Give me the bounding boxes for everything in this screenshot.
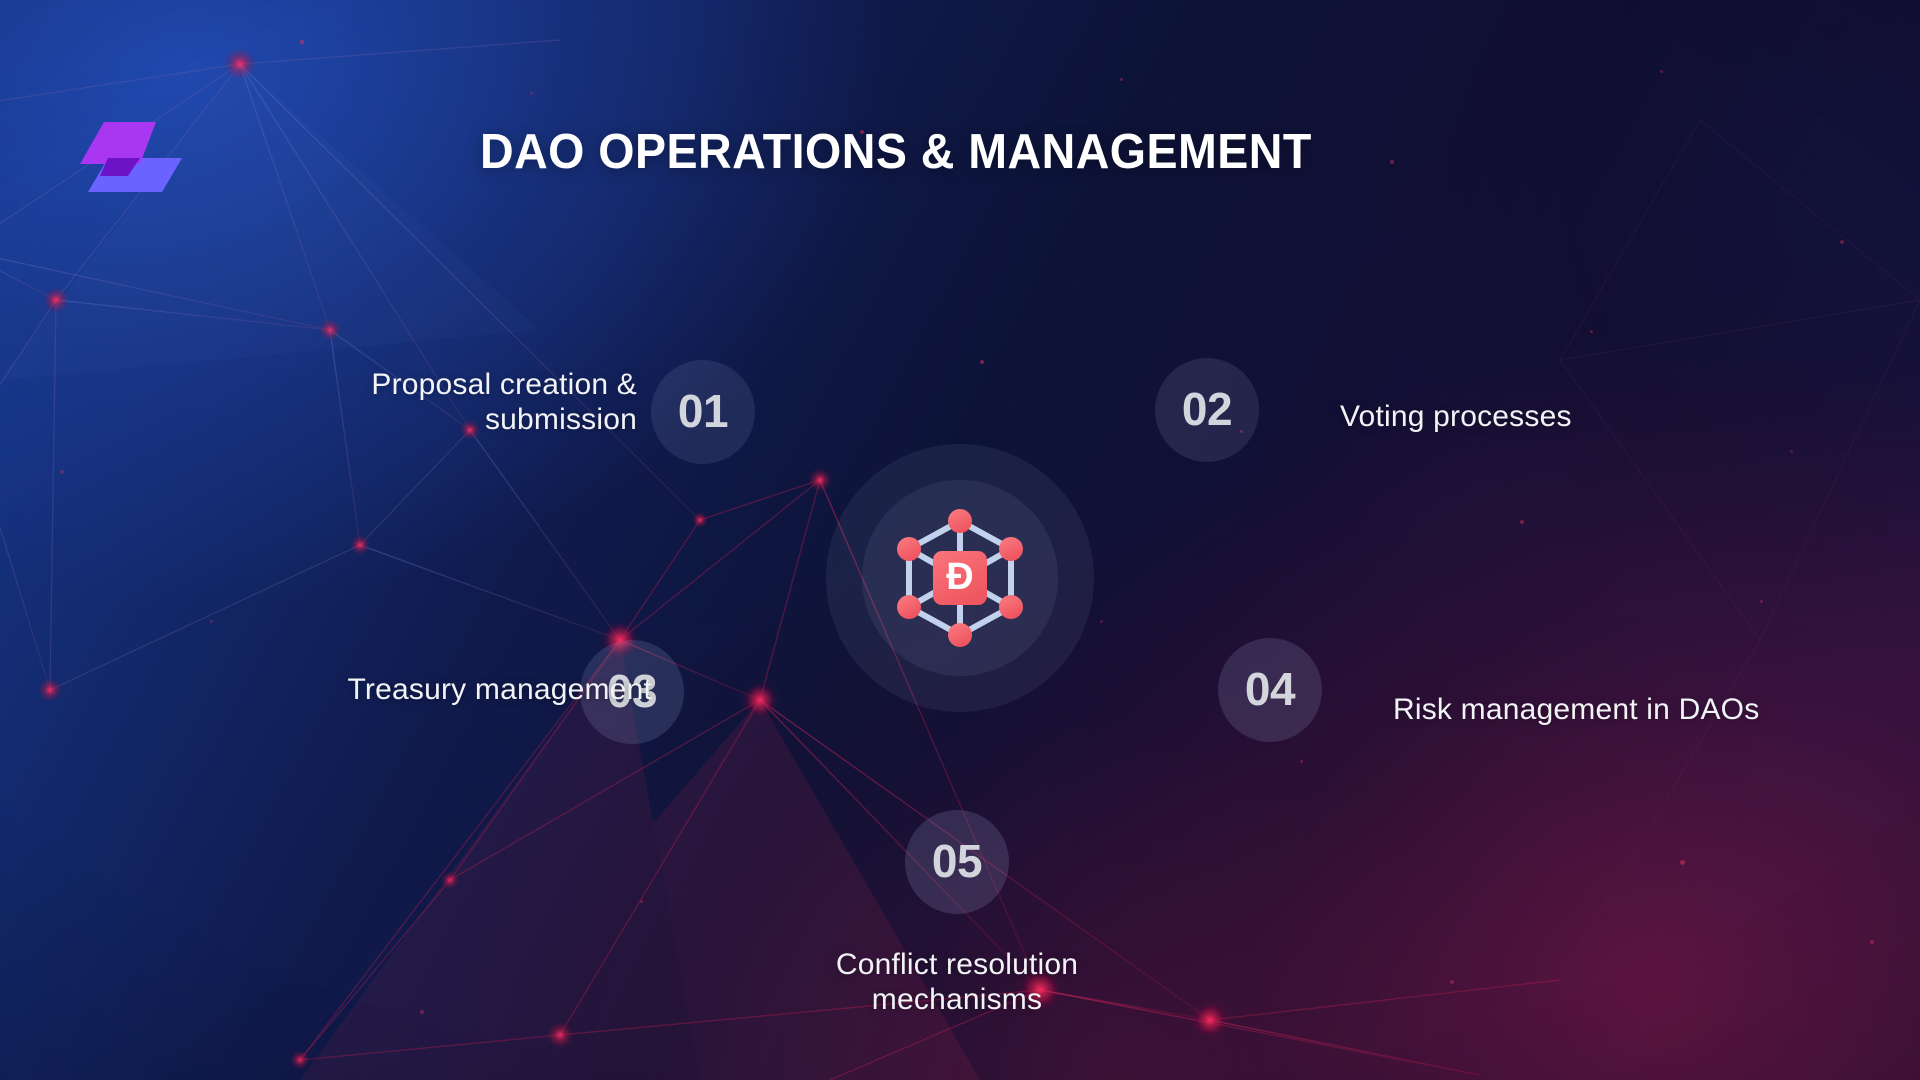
- dao-glyph: Đ: [946, 556, 973, 598]
- center-medallion: Đ: [826, 444, 1094, 712]
- step-bubble-04[interactable]: 04: [1218, 638, 1322, 742]
- hexagon-network-svg: Đ: [887, 505, 1033, 651]
- dao-network-hexagon-icon: Đ: [887, 505, 1033, 651]
- step-label-04: Risk management in DAOs: [1393, 693, 1893, 728]
- slide-root: DAO OPERATIONS & MANAGEMENT: [0, 0, 1920, 1080]
- step-bubble-02[interactable]: 02: [1155, 358, 1259, 462]
- step-label-02-line1: Voting processes: [1340, 400, 1760, 435]
- step-label-01-line1: Proposal creation &: [217, 368, 637, 403]
- step-number-04: 04: [1245, 662, 1295, 716]
- step-number-01: 01: [678, 384, 728, 438]
- step-label-01-line2: submission: [217, 403, 637, 438]
- page-title: DAO OPERATIONS & MANAGEMENT: [480, 124, 1430, 180]
- step-label-02: Voting processes: [1340, 400, 1760, 435]
- brand-chevron-logo[interactable]: [78, 118, 188, 194]
- step-number-05: 05: [932, 834, 982, 888]
- step-label-04-line1: Risk management in DAOs: [1393, 693, 1893, 728]
- step-label-03: Treasury management: [172, 673, 652, 708]
- logo-svg: [78, 118, 188, 194]
- step-label-01: Proposal creation & submission: [217, 368, 637, 438]
- step-label-05: Conflict resolution mechanisms: [697, 948, 1217, 1018]
- step-number-02: 02: [1182, 382, 1232, 436]
- step-label-05-line2: mechanisms: [697, 983, 1217, 1018]
- step-bubble-05[interactable]: 05: [905, 810, 1009, 914]
- step-label-03-line1: Treasury management: [172, 673, 652, 708]
- step-bubble-01[interactable]: 01: [651, 360, 755, 464]
- step-label-05-line1: Conflict resolution: [697, 948, 1217, 983]
